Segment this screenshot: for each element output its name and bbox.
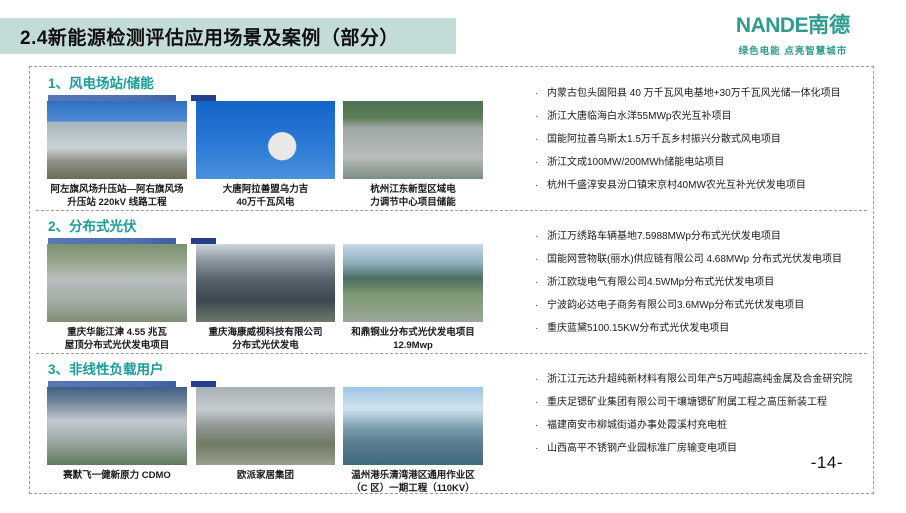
card-item: 温州港乐清湾港区通用作业区 （C 区）一期工程（110KV） [343, 387, 483, 496]
section-1-header: 1、风电场站/储能 [48, 77, 216, 101]
bullet-text: 重庆蓝黛5100.15KW分布式光伏发电项目 [547, 322, 729, 336]
bullet-item: · 山西高平不锈钢产业园标准厂房输变电项目 [535, 442, 906, 456]
logo-tagline: 绿色电能 点亮智慧城市 [698, 43, 888, 57]
bullet-dot: · [535, 133, 547, 147]
rule-bar-short [191, 95, 216, 101]
bullet-dot: · [535, 110, 547, 124]
rule-bar-long [48, 381, 176, 387]
bullet-dot: · [535, 419, 547, 433]
section-2-title: 2、分布式光伏 [48, 220, 216, 234]
card-item: 和鼎铜业分布式光伏发电项目 12.9Mwp [343, 244, 483, 353]
logo-wordmark: NANDE南德 [698, 14, 888, 37]
bullet-dot: · [535, 396, 547, 410]
bullet-dot: · [535, 442, 547, 456]
bullet-text: 浙江大唐临海白水洋55MWp农光互补项目 [547, 110, 731, 124]
card-caption: 阿左旗风场升压站—阿右旗风场 升压站 220kV 线路工程 [47, 184, 187, 210]
thumbnail-image [47, 387, 187, 465]
bullet-text: 福建南安市柳城街道办事处霞溪村充电桩 [547, 419, 727, 433]
bullet-item: · 重庆足锶矿业集团有限公司干壤塘锶矿附属工程之高压新装工程 [535, 396, 906, 410]
section-2-header: 2、分布式光伏 [48, 220, 216, 244]
rule-bar-long [48, 238, 176, 244]
bullet-item: · 国能阿拉善乌斯太1.5万千瓦乡村振兴分散式风电项目 [535, 133, 906, 147]
thumbnail-image [196, 101, 335, 179]
bullet-dot: · [535, 156, 547, 170]
bullet-item: · 宁波韵必达电子商务有限公司3.6MWp分布式光伏发电项目 [535, 299, 906, 313]
card-caption: 重庆海康威视科技有限公司 分布式光伏发电 [196, 327, 335, 353]
card-caption: 赛默飞一健新原力 CDMO [47, 470, 187, 483]
bullet-text: 浙江江元达升超纯新材料有限公司年产5万吨超高纯金属及合金研究院 [547, 373, 853, 387]
bullet-text: 宁波韵必达电子商务有限公司3.6MWp分布式光伏发电项目 [547, 299, 804, 313]
bullet-item: · 浙江欧珑电气有限公司4.5WMp分布式光伏发电项目 [535, 276, 906, 290]
bullet-text: 浙江欧珑电气有限公司4.5WMp分布式光伏发电项目 [547, 276, 774, 290]
logo-text-en: NANDE [736, 14, 808, 37]
bullet-text: 重庆足锶矿业集团有限公司干壤塘锶矿附属工程之高压新装工程 [547, 396, 827, 410]
card-item: 阿左旗风场升压站—阿右旗风场 升压站 220kV 线路工程 [47, 101, 187, 210]
logo-text-cn: 南德 [808, 14, 850, 37]
rule-bar-long [48, 95, 176, 101]
slide-root: 2.4新能源检测评估应用场景及案例（部分） NANDE南德 绿色电能 点亮智慧城… [0, 0, 906, 513]
thumbnail-image [196, 244, 335, 322]
card-caption: 欧派家居集团 [196, 470, 335, 483]
brand-logo: NANDE南德 绿色电能 点亮智慧城市 [698, 14, 888, 57]
slide-title-bar: 2.4新能源检测评估应用场景及案例（部分） [0, 18, 456, 54]
card-item: 杭州江东新型区域电 力调节中心项目储能 [343, 101, 483, 210]
thumbnail-image [47, 244, 187, 322]
card-caption: 和鼎铜业分布式光伏发电项目 12.9Mwp [343, 327, 483, 353]
bullet-item: · 杭州千盛淳安县汾口镇宋京村40MW农光互补光伏发电项目 [535, 179, 906, 193]
bullet-item: · 内蒙古包头固阳县 40 万千瓦风电基地+30万千瓦风光储一体化项目 [535, 87, 906, 101]
card-caption: 大唐阿拉善盟乌力吉 40万千瓦风电 [196, 184, 335, 210]
section-1-bullets: · 内蒙古包头固阳县 40 万千瓦风电基地+30万千瓦风光储一体化项目 · 浙江… [535, 87, 906, 202]
bullet-item: · 福建南安市柳城街道办事处霞溪村充电桩 [535, 419, 906, 433]
bullet-dot: · [535, 87, 547, 101]
rule-bar-short [191, 381, 216, 387]
section-1-rule [48, 95, 216, 101]
section-3-header: 3、非线性负载用户 [48, 363, 216, 387]
thumbnail-image [196, 387, 335, 465]
section-wind-storage: 1、风电场站/储能 阿左旗风场升压站—阿右旗风场 升压站 220kV 线路工程 … [30, 67, 873, 207]
card-caption: 杭州江东新型区域电 力调节中心项目储能 [343, 184, 483, 210]
thumbnail-image [47, 101, 187, 179]
section-nonlinear-load: 3、非线性负载用户 赛默飞一健新原力 CDMO 欧派家居集团 温州港乐清湾 [30, 353, 873, 495]
bullet-dot: · [535, 276, 547, 290]
page-number: -14- [811, 453, 843, 473]
thumbnail-image [343, 387, 483, 465]
bullet-dot: · [535, 373, 547, 387]
bullet-text: 浙江万绣路车辆基地7.5988MWp分布式光伏发电项目 [547, 230, 781, 244]
bullet-item: · 重庆蓝黛5100.15KW分布式光伏发电项目 [535, 322, 906, 336]
card-item: 赛默飞一健新原力 CDMO [47, 387, 187, 483]
bullet-dot: · [535, 322, 547, 336]
section-1-title: 1、风电场站/储能 [48, 77, 216, 91]
bullet-dot: · [535, 179, 547, 193]
card-item: 重庆华能江津 4.55 兆瓦 屋顶分布式光伏发电项目 [47, 244, 187, 353]
bullet-text: 国能网营物联(丽水)供应链有限公司 4.68MWp 分布式光伏发电项目 [547, 253, 842, 267]
bullet-text: 山西高平不锈钢产业园标准厂房输变电项目 [547, 442, 737, 456]
bullet-item: · 浙江万绣路车辆基地7.5988MWp分布式光伏发电项目 [535, 230, 906, 244]
section-3-rule [48, 381, 216, 387]
section-2-bullets: · 浙江万绣路车辆基地7.5988MWp分布式光伏发电项目 · 国能网营物联(丽… [535, 230, 906, 345]
card-caption: 重庆华能江津 4.55 兆瓦 屋顶分布式光伏发电项目 [47, 327, 187, 353]
bullet-text: 内蒙古包头固阳县 40 万千瓦风电基地+30万千瓦风光储一体化项目 [547, 87, 841, 101]
section-distributed-pv: 2、分布式光伏 重庆华能江津 4.55 兆瓦 屋顶分布式光伏发电项目 重庆海康威… [30, 210, 873, 352]
bullet-dot: · [535, 230, 547, 244]
card-caption: 温州港乐清湾港区通用作业区 （C 区）一期工程（110KV） [343, 470, 483, 496]
bullet-item: · 浙江大唐临海白水洋55MWp农光互补项目 [535, 110, 906, 124]
bullet-text: 杭州千盛淳安县汾口镇宋京村40MW农光互补光伏发电项目 [547, 179, 806, 193]
rule-bar-short [191, 238, 216, 244]
section-3-title: 3、非线性负载用户 [48, 363, 216, 377]
bullet-item: · 浙江江元达升超纯新材料有限公司年产5万吨超高纯金属及合金研究院 [535, 373, 906, 387]
page-title: 2.4新能源检测评估应用场景及案例（部分） [20, 23, 399, 50]
thumbnail-image [343, 244, 483, 322]
section-3-bullets: · 浙江江元达升超纯新材料有限公司年产5万吨超高纯金属及合金研究院 · 重庆足锶… [535, 373, 906, 465]
card-item: 欧派家居集团 [196, 387, 335, 483]
bullet-dot: · [535, 299, 547, 313]
bullet-text: 浙江文成100MW/200MWh储能电站项目 [547, 156, 724, 170]
bullet-item: · 浙江文成100MW/200MWh储能电站项目 [535, 156, 906, 170]
section-2-rule [48, 238, 216, 244]
bullet-item: · 国能网营物联(丽水)供应链有限公司 4.68MWp 分布式光伏发电项目 [535, 253, 906, 267]
card-item: 大唐阿拉善盟乌力吉 40万千瓦风电 [196, 101, 335, 210]
bullet-text: 国能阿拉善乌斯太1.5万千瓦乡村振兴分散式风电项目 [547, 133, 781, 147]
thumbnail-image [343, 101, 483, 179]
card-item: 重庆海康威视科技有限公司 分布式光伏发电 [196, 244, 335, 353]
content-frame: 1、风电场站/储能 阿左旗风场升压站—阿右旗风场 升压站 220kV 线路工程 … [29, 66, 874, 494]
bullet-dot: · [535, 253, 547, 267]
